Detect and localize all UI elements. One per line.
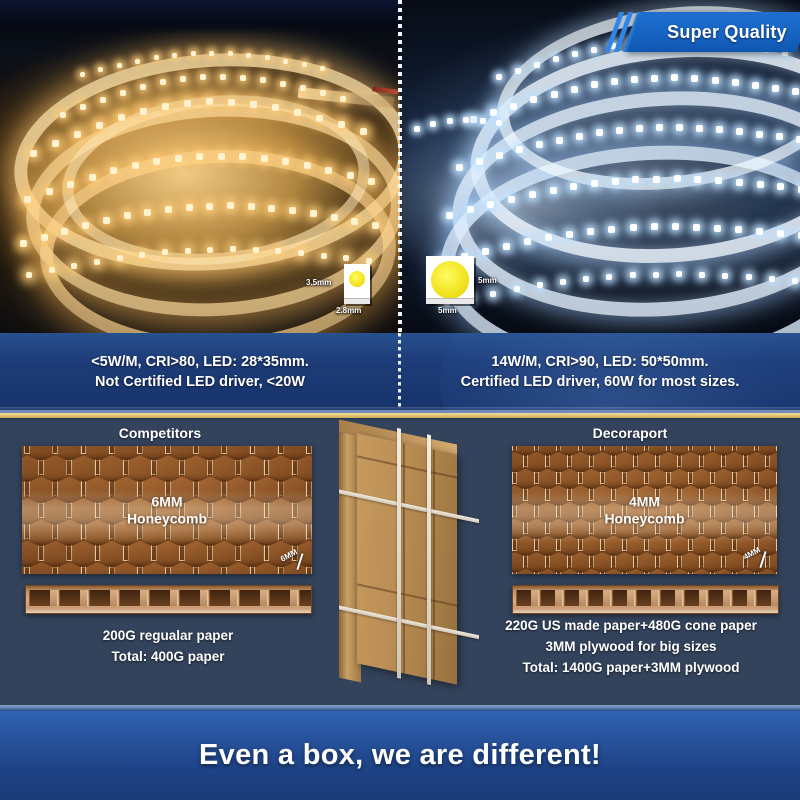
led-dot: [463, 117, 469, 123]
packaging-comparison-section: Competitors Decoraport 6MM Honeycomb 6MM…: [0, 420, 800, 705]
caption-line: 220G US made paper+480G cone paper: [466, 616, 796, 637]
led-dot: [80, 72, 85, 77]
product-comparison-infographic: 3.5mm 2.8mm 5mm: [0, 0, 800, 800]
spec-line: Not Certified LED driver, <20W: [95, 374, 305, 390]
caption-line: 3MM plywood for big sizes: [466, 637, 796, 658]
board-cell: [732, 590, 755, 606]
shipping-carton-image: [333, 428, 483, 700]
board-cell: [540, 590, 563, 606]
board-cell: [299, 590, 312, 606]
board-cell: [119, 590, 148, 606]
board-cell: [239, 590, 268, 606]
led-phosphor-icon: [431, 261, 469, 299]
board-cell: [636, 590, 659, 606]
decoraport-title: Decoraport: [480, 425, 780, 441]
chip-height-label: 3.5mm: [306, 278, 331, 287]
led-dot: [470, 116, 477, 123]
competitor-board-cross-section: [25, 585, 312, 614]
board-cell: [660, 590, 683, 606]
led-dot: [430, 121, 436, 127]
honeycomb-label: 6MM Honeycomb: [22, 493, 312, 526]
gold-divider: [0, 410, 800, 420]
spec-line: <5W/M, CRI>80, LED: 28*35mm.: [91, 354, 309, 370]
competitor-spec-column: <5W/M, CRI>80, LED: 28*35mm. Not Certifi…: [2, 333, 398, 410]
decoraport-caption: 220G US made paper+480G cone paper 3MM p…: [466, 616, 796, 679]
board-cell: [756, 590, 779, 606]
led-chip-diagram: [344, 264, 370, 304]
caption-line: 200G regualar paper: [10, 626, 326, 647]
led-dot: [456, 164, 463, 171]
super-quality-ribbon: Super Quality: [612, 12, 800, 56]
led-dot: [414, 126, 420, 132]
board-cell: [516, 590, 539, 606]
footer-banner: Even a box, we are different!: [0, 711, 800, 800]
board-cell: [588, 590, 611, 606]
competitor-honeycomb-image: 6MM Honeycomb 6MM: [22, 446, 312, 574]
board-cell: [708, 590, 731, 606]
board-cell: [684, 590, 707, 606]
decoraport-led-chip-callout: 5mm 5mm: [424, 254, 520, 324]
board-cell: [149, 590, 178, 606]
chip-height-label: 5mm: [478, 276, 497, 285]
decoraport-honeycomb-image: 4MM Honeycomb 4MM: [512, 446, 777, 574]
footer-headline: Even a box, we are different!: [199, 739, 601, 772]
led-dot: [20, 240, 27, 247]
spec-line: 14W/M, CRI>90, LED: 50*50mm.: [491, 354, 708, 370]
carton-front-face: [357, 433, 457, 684]
spec-divider: [398, 333, 401, 410]
competitor-led-photo: 3.5mm 2.8mm: [0, 0, 400, 333]
led-dot: [98, 67, 103, 72]
honeycomb-label: 4MM Honeycomb: [512, 493, 777, 526]
board-cell: [564, 590, 587, 606]
board-cell: [209, 590, 238, 606]
led-dot: [26, 272, 32, 278]
chip-width-label: 5mm: [438, 306, 457, 315]
competitor-led-chip-callout: 3.5mm 2.8mm: [306, 262, 392, 322]
decoraport-board-cross-section: [512, 585, 779, 614]
board-cell: [89, 590, 118, 606]
competitor-caption: 200G regualar paper Total: 400G paper: [10, 626, 326, 668]
board-cell: [269, 590, 298, 606]
led-dot: [135, 59, 140, 64]
board-cell: [612, 590, 635, 606]
led-dot: [117, 63, 122, 68]
spec-band: <5W/M, CRI>80, LED: 28*35mm. Not Certifi…: [0, 333, 800, 410]
ribbon-label: Super Quality: [646, 12, 800, 52]
honeycomb-word: Honeycomb: [127, 510, 207, 526]
decoraport-spec-column: 14W/M, CRI>90, LED: 50*50mm. Certified L…: [402, 333, 798, 410]
led-dot: [496, 74, 502, 80]
caption-line: Total: 1400G paper+3MM plywood: [466, 658, 796, 679]
chip-base: [344, 298, 370, 304]
honeycomb-size: 6MM: [151, 493, 182, 509]
competitors-title: Competitors: [10, 425, 310, 441]
led-dot: [447, 118, 453, 124]
honeycomb-size: 4MM: [629, 493, 660, 509]
led-comparison-photos: 3.5mm 2.8mm 5mm: [0, 0, 800, 333]
panel-divider: [398, 0, 402, 333]
led-phosphor-icon: [349, 271, 365, 287]
board-cell: [59, 590, 88, 606]
board-cell: [29, 590, 58, 606]
chip-base: [426, 298, 474, 304]
spec-line: Certified LED driver, 60W for most sizes…: [461, 374, 740, 390]
caption-line: Total: 400G paper: [10, 647, 326, 668]
honeycomb-word: Honeycomb: [604, 510, 684, 526]
board-cell: [179, 590, 208, 606]
led-chip-diagram: [426, 256, 474, 304]
chip-width-label: 2.8mm: [336, 306, 361, 315]
